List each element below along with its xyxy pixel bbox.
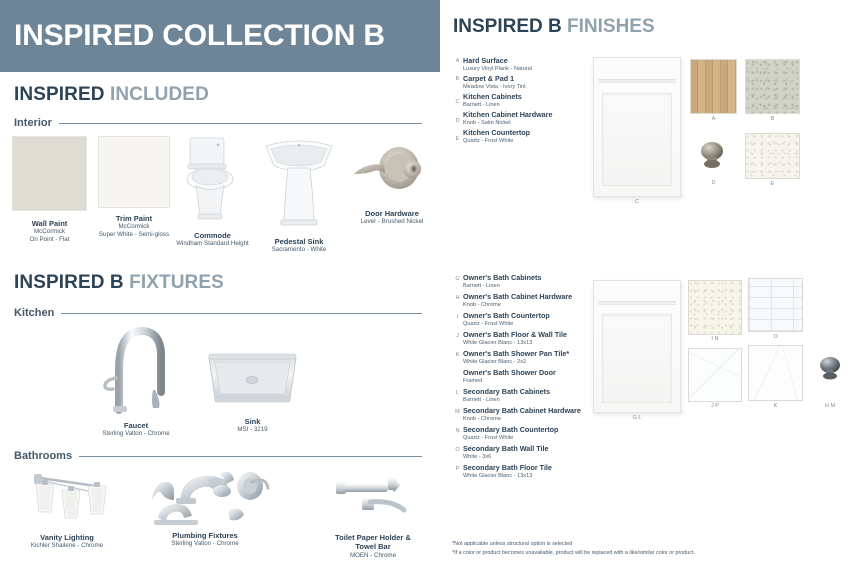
finish-name: Owner's Bath Cabinets	[463, 274, 541, 283]
inspired-included-heading: INSPIRED INCLUDED	[14, 84, 209, 106]
bathrooms-rule	[79, 456, 422, 457]
cabinet-panel	[602, 314, 673, 403]
interior-subhead: Interior	[14, 117, 422, 129]
finish-desc: Luxury Vinyl Plank - Natural	[463, 66, 532, 73]
product-plumbing-fixtures: Plumbing Fixtures Sterling Valton - Chro…	[140, 466, 270, 548]
marble-tile-icon	[688, 348, 742, 402]
cabinet-panel	[602, 93, 673, 187]
finish-name: Owner's Bath Cabinet Hardware	[463, 293, 572, 302]
finish-desc: Barnett - Linen	[463, 283, 541, 290]
footnote-2: *If a color or product becomes unavailab…	[452, 549, 848, 558]
finish-desc: Knob - Chrome	[463, 416, 581, 423]
product-line2: On Point - Flat	[12, 236, 87, 244]
bath-floor-wall-tile-swatch	[688, 348, 742, 402]
product-line1: McCormick	[98, 223, 170, 231]
finish-letter: P	[453, 466, 462, 472]
footnote-1: *Not applicable unless structural option…	[452, 540, 848, 549]
interior-label: Interior	[14, 117, 59, 129]
finish-name: Owner's Bath Shower Pan Tile*	[463, 350, 569, 359]
plumbing-fixtures-icon	[140, 466, 270, 528]
product-line1: McCormick	[12, 228, 87, 236]
quartz-texture-icon	[745, 133, 800, 179]
product-vanity-lighting: Vanity Lighting Kichler Shailene - Chrom…	[18, 468, 116, 550]
finishes-heading-light: FINISHES	[567, 16, 655, 37]
kitchen-knob-sample	[695, 140, 729, 175]
swatch-label-d: D	[690, 180, 737, 186]
product-name: Door Hardware	[344, 209, 440, 218]
finish-desc: Barnett - Linen	[463, 102, 522, 109]
kitchen-sink-icon	[205, 350, 300, 408]
finish-name: Kitchen Countertop	[463, 129, 530, 138]
swatch-label-o: O	[748, 334, 803, 340]
kitchen-label: Kitchen	[14, 307, 61, 319]
finish-letter: D	[453, 118, 462, 124]
cabinet-rail	[598, 79, 675, 83]
fixtures-heading-light: FIXTURES	[129, 272, 224, 293]
product-commode: Commode Windham Standard Height	[170, 132, 255, 248]
product-line1: Sterling Valton - Chrome	[140, 540, 270, 548]
product-line2: Super White - Semi-gloss	[98, 231, 170, 239]
finish-letter: N	[453, 428, 462, 434]
cabinet-knob-icon	[815, 355, 845, 383]
finish-desc: White Glacier Blanc - 2x2	[463, 359, 569, 366]
finish-name: Kitchen Cabinets	[463, 93, 522, 102]
swatch-label-c: C	[593, 199, 681, 205]
product-name: Plumbing Fixtures	[140, 531, 270, 540]
product-pedestal-sink: Pedestal Sink Sacramento - White	[258, 132, 340, 254]
subway-tile-icon	[748, 278, 803, 332]
finish-name: Secondary Bath Wall Tile	[463, 445, 548, 454]
finish-letter: K	[453, 352, 462, 358]
bath-shower-pan-tile-swatch	[748, 345, 803, 401]
finish-name: Secondary Bath Countertop	[463, 426, 558, 435]
finish-letter: B	[453, 76, 462, 82]
hard-surface-swatch	[690, 59, 737, 114]
product-trim-paint: Trim Paint McCormick Super White - Semi-…	[98, 136, 170, 239]
fixtures-heading-strong: INSPIRED B	[14, 272, 124, 293]
inspired-fixtures-heading: INSPIRED B FIXTURES	[14, 272, 224, 294]
carpet-swatch	[745, 59, 800, 114]
bath-knob-sample	[815, 355, 845, 388]
right-column: INSPIRED B FINISHES A Hard Surface Luxur…	[450, 0, 853, 569]
collection-title: INSPIRED COLLECTION B	[0, 19, 385, 53]
finish-desc: White - 3x6	[463, 454, 548, 461]
finish-desc: Meadow Vista - Ivory Tint	[463, 84, 526, 91]
product-faucet: Faucet Sterling Valton - Chrome	[97, 318, 175, 438]
finish-desc: Quartz - Frost White	[463, 321, 550, 328]
finish-desc: Knob - Chrome	[463, 302, 572, 309]
product-line1: MOEN - Chrome	[318, 552, 428, 560]
product-line1: MSI - 3219	[205, 426, 300, 434]
finish-letter: L	[453, 390, 462, 396]
product-line1: Lever - Brushed Nickel	[344, 218, 440, 226]
collection-banner: INSPIRED COLLECTION B	[0, 0, 440, 72]
finish-letter: I	[453, 314, 462, 320]
finish-desc: Barnett - Linen	[463, 397, 550, 404]
product-name: Vanity Lighting	[18, 533, 116, 542]
finish-desc: White Glacier Blanc - 13x13	[463, 473, 552, 480]
product-line1: Kichler Shailene - Chrome	[18, 542, 116, 550]
included-heading-strong: INSPIRED	[14, 84, 105, 105]
collection-spec-sheet: INSPIRED COLLECTION B INSPIRED INCLUDED …	[0, 0, 853, 569]
product-wall-paint: Wall Paint McCormick On Point - Flat	[12, 136, 87, 244]
interior-rule	[59, 123, 422, 124]
finish-letter: J	[453, 333, 462, 339]
finish-letter: A	[453, 58, 462, 64]
kitchen-subhead: Kitchen	[14, 307, 422, 319]
swatch-label-hm: H M	[810, 403, 850, 409]
finish-desc: Knob - Satin Nickel	[463, 120, 552, 127]
toilet-icon	[170, 132, 255, 224]
kitchen-rule	[61, 313, 422, 314]
finish-letter: H	[453, 295, 462, 301]
finish-name: Secondary Bath Floor Tile	[463, 464, 552, 473]
finish-name: Owner's Bath Floor & Wall Tile	[463, 331, 567, 340]
finish-letter: G	[453, 276, 462, 282]
swatch-label-a: A	[690, 116, 737, 122]
product-name: Trim Paint	[98, 214, 170, 223]
towel-bar-icon	[318, 470, 428, 526]
bathrooms-subhead: Bathrooms	[14, 450, 422, 462]
product-towel-bar: Toilet Paper Holder & Towel Bar MOEN - C…	[318, 470, 428, 560]
left-column: INSPIRED COLLECTION B INSPIRED INCLUDED …	[0, 0, 440, 569]
product-name: Wall Paint	[12, 219, 87, 228]
product-name: Pedestal Sink	[258, 237, 340, 246]
finish-name: Kitchen Cabinet Hardware	[463, 111, 552, 120]
finishes-heading-strong: INSPIRED B	[453, 16, 562, 37]
finish-name: Owner's Bath Countertop	[463, 312, 550, 321]
product-sink: Sink MSI - 3219	[205, 350, 300, 434]
footnotes: *Not applicable unless structural option…	[452, 540, 848, 558]
swatch-label-e: E	[745, 181, 800, 187]
bath-countertop-swatch	[688, 280, 742, 335]
product-name: Toilet Paper Holder &	[318, 533, 428, 542]
pedestal-sink-icon	[258, 132, 340, 232]
finish-name: Owner's Bath Shower Door	[463, 369, 556, 378]
paint-swatch-icon	[98, 136, 170, 208]
finish-letter: O	[453, 447, 462, 453]
swatch-label-in: I N	[688, 336, 742, 342]
product-name: Sink	[205, 417, 300, 426]
finishes-heading: INSPIRED B FINISHES	[453, 16, 655, 38]
bath-cabinet-door-sample	[593, 280, 681, 413]
finish-desc: Quartz - Frost White	[463, 138, 530, 145]
product-name-2: Towel Bar	[318, 542, 428, 551]
finish-desc: Quartz - Frost White	[463, 435, 558, 442]
kitchen-cabinet-door-sample	[593, 57, 681, 197]
bathrooms-label: Bathrooms	[14, 450, 79, 462]
paint-swatch-icon	[12, 136, 87, 211]
wood-plank-icon	[690, 59, 737, 114]
finish-desc: Framed	[463, 378, 556, 385]
marble-tile-icon	[748, 345, 803, 401]
product-name: Commode	[170, 231, 255, 240]
product-name: Faucet	[97, 421, 175, 430]
secondary-bath-wall-tile-swatch	[748, 278, 803, 332]
finish-name: Secondary Bath Cabinet Hardware	[463, 407, 581, 416]
finish-name: Carpet & Pad 1	[463, 75, 526, 84]
finish-name: Hard Surface	[463, 57, 532, 66]
product-line1: Sacramento - White	[258, 246, 340, 254]
finish-desc: White Glacier Blanc - 13x13	[463, 340, 567, 347]
door-lever-icon	[344, 140, 440, 200]
product-line1: Windham Standard Height	[170, 240, 255, 248]
kitchen-countertop-swatch	[745, 133, 800, 179]
finish-name: Secondary Bath Cabinets	[463, 388, 550, 397]
quartz-texture-icon	[688, 280, 742, 335]
finish-letter: C	[453, 99, 462, 105]
included-heading-light: INCLUDED	[110, 84, 209, 105]
product-line1: Sterling Valton - Chrome	[97, 430, 175, 438]
product-door-hardware: Door Hardware Lever - Brushed Nickel	[344, 140, 440, 226]
kitchen-faucet-icon	[97, 318, 175, 414]
cabinet-knob-icon	[695, 140, 729, 170]
finish-letter: E	[453, 136, 462, 142]
vanity-light-icon	[18, 468, 116, 526]
swatch-label-jp: J P	[688, 403, 742, 409]
swatch-label-k: K	[748, 403, 803, 409]
swatch-label-b: B	[745, 116, 800, 122]
cabinet-rail	[598, 301, 675, 305]
carpet-texture-icon	[745, 59, 800, 114]
swatch-label-gl: G L	[593, 415, 681, 421]
finish-letter: M	[453, 409, 462, 415]
